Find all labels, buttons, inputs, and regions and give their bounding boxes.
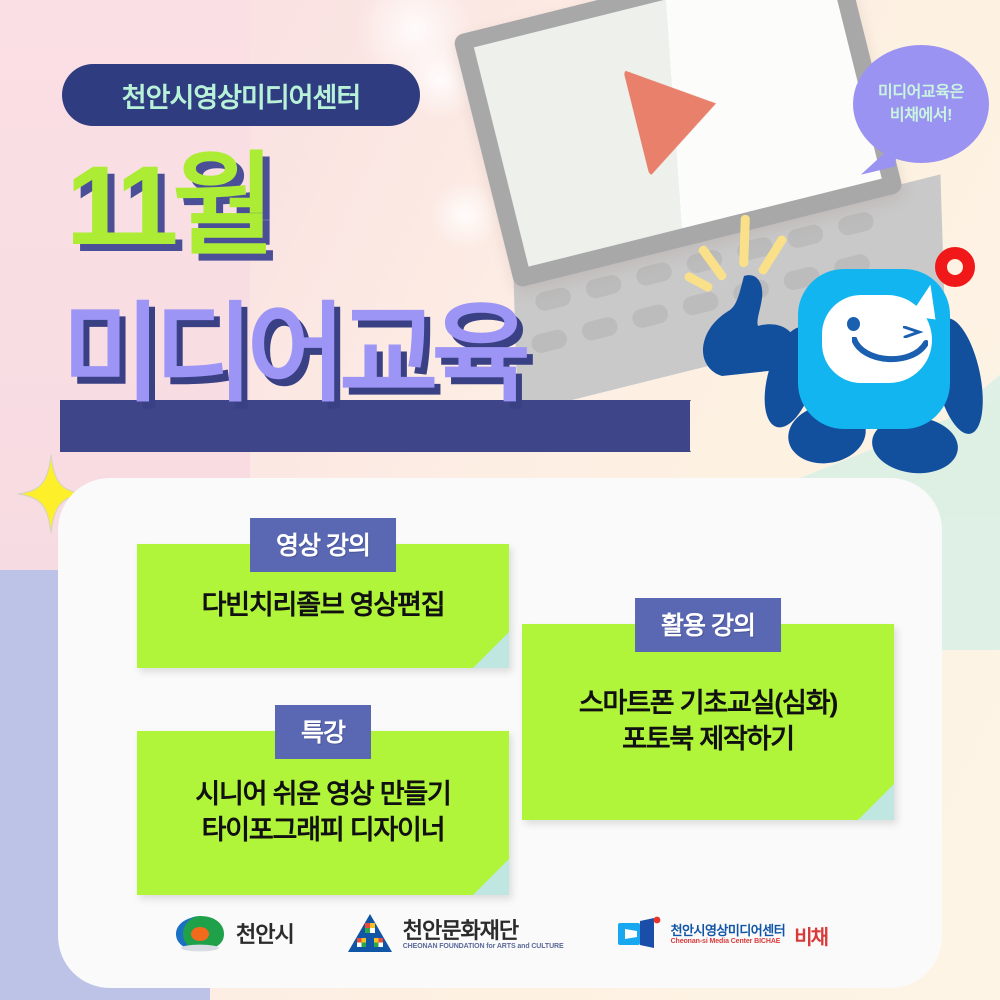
course-card-tag: 특강 (275, 705, 371, 759)
mascot-smile (852, 337, 928, 371)
bichae-logo-text: 천안시영상미디어센터 Cheonan-si Media Center BICHA… (671, 924, 786, 946)
bubble-line-1: 미디어교육은 (878, 81, 964, 104)
logo-name-en: Cheonan-si Media Center BICHAE (671, 938, 786, 946)
course-card-tag: 영상 강의 (250, 518, 396, 572)
red-ring-icon (935, 247, 975, 287)
badge-label: 천안시영상미디어센터 (122, 76, 360, 115)
mascot-eye-wink (903, 325, 925, 337)
course-line: 타이포그래피 디자이너 (202, 813, 445, 849)
logo-name-ko: 천안문화재단 (403, 919, 564, 943)
mascot-eye-open (847, 317, 860, 331)
course-line: 포토북 제작하기 (622, 722, 794, 758)
center-name-badge: 천안시영상미디어센터 (62, 64, 420, 126)
course-card[interactable]: 스마트폰 기초교실(심화) 포토북 제작하기 활용 강의 (522, 598, 894, 820)
card-folded-corner (858, 784, 894, 820)
speech-bubble: 미디어교육은 비채에서! (853, 45, 989, 163)
course-line: 다빈치리졸브 영상편집 (202, 588, 445, 624)
bichae-mascot-icon (760, 255, 1000, 485)
course-card-body: 스마트폰 기초교실(심화) 포토북 제작하기 (522, 624, 894, 820)
cheonan-city-logo-icon (173, 913, 227, 958)
bichae-media-center-logo: 천안시영상미디어센터 Cheonan-si Media Center BICHA… (616, 916, 827, 955)
card-folded-corner (473, 632, 509, 668)
course-line: 시니어 쉬운 영상 만들기 (195, 777, 450, 813)
card-folded-corner (473, 859, 509, 895)
play-triangle-icon (623, 50, 729, 177)
cheonan-city-logo-text: 천안시 (236, 923, 294, 947)
cheonan-foundation-logo-text: 천안문화재단 CHEONAN FOUNDATION for ARTS and C… (403, 919, 564, 950)
headline-month: 11월 (66, 150, 269, 262)
cheonan-foundation-logo-icon (346, 912, 394, 959)
course-card-tag: 활용 강의 (635, 598, 781, 652)
logo-name-ko: 천안시영상미디어센터 (671, 924, 786, 938)
logo-name-ko: 천안시 (236, 923, 294, 947)
bubble-line-2: 비채에서! (890, 104, 952, 127)
course-line: 스마트폰 기초교실(심화) (579, 686, 837, 722)
course-card[interactable]: 다빈치리졸브 영상편집 영상 강의 (137, 518, 509, 668)
cheonan-foundation-logo: 천안문화재단 CHEONAN FOUNDATION for ARTS and C… (346, 912, 564, 959)
footer-logos: 천안시 (58, 906, 942, 964)
bichae-brand-ko: 비채 (794, 921, 827, 950)
logo-name-en: CHEONAN FOUNDATION for ARTS and CULTURE (403, 943, 564, 951)
cheonan-city-logo: 천안시 (173, 913, 294, 958)
course-card[interactable]: 시니어 쉬운 영상 만들기 타이포그래피 디자이너 특강 (137, 705, 509, 895)
poster-canvas: 미디어교육은 비채에서! 천안시영상미디어센터 11월 미디어교육 (0, 0, 1000, 1000)
bichae-media-center-logo-icon (616, 916, 662, 955)
page-title: 미디어교육 (62, 300, 524, 408)
